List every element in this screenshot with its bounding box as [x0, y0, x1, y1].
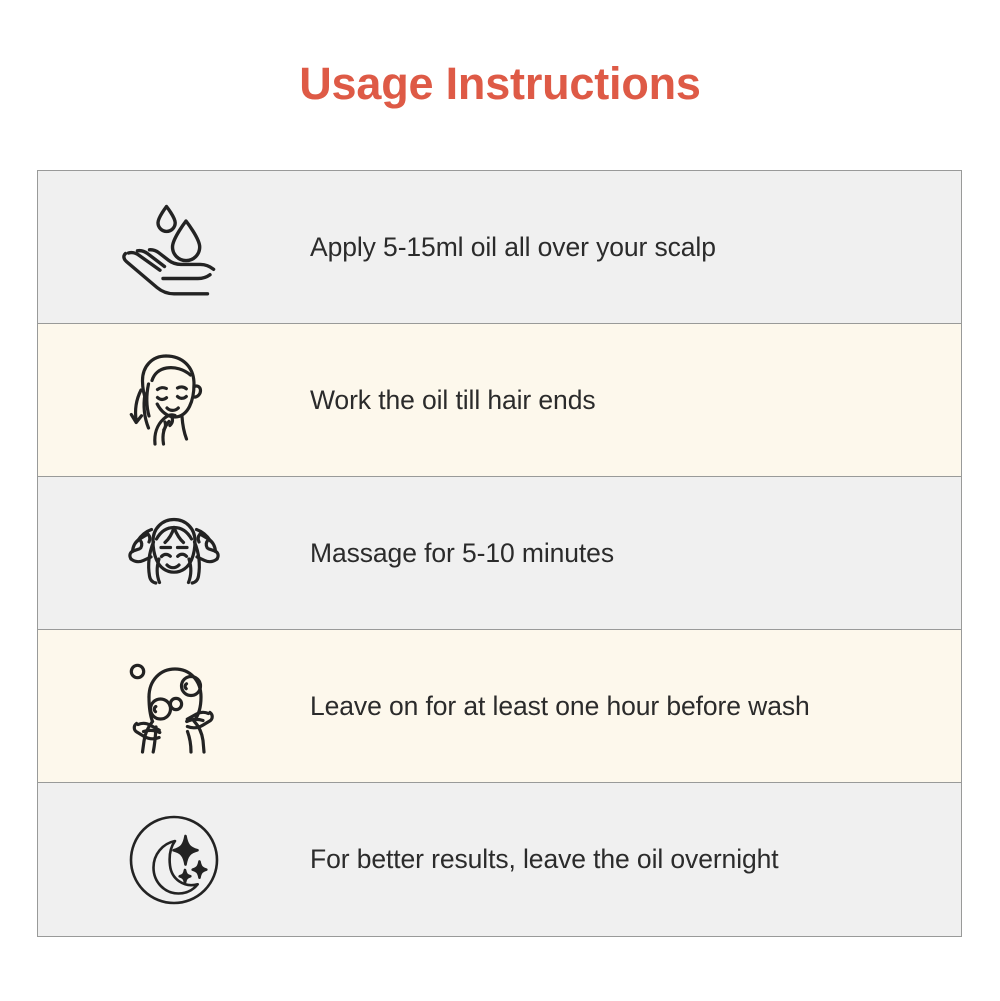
- instruction-step-row: Leave on for at least one hour before wa…: [38, 630, 961, 783]
- page-title: Usage Instructions: [0, 58, 1000, 110]
- moon-and-stars-icon: [38, 783, 310, 936]
- instruction-step-row: Work the oil till hair ends: [38, 324, 961, 477]
- instruction-step-text: Massage for 5-10 minutes: [310, 538, 961, 569]
- instruction-step-row: Apply 5-15ml oil all over your scalp: [38, 171, 961, 324]
- hair-wash-foam-icon: [38, 630, 310, 782]
- instruction-step-row: For better results, leave the oil overni…: [38, 783, 961, 936]
- instructions-table: Apply 5-15ml oil all over your scalp: [37, 170, 962, 937]
- woman-applying-oil-to-hair-icon: [38, 324, 310, 476]
- hand-with-oil-drops-icon: [38, 171, 310, 323]
- instruction-step-text: Leave on for at least one hour before wa…: [310, 691, 961, 722]
- instruction-step-row: Massage for 5-10 minutes: [38, 477, 961, 630]
- scalp-massage-icon: [38, 477, 310, 629]
- instruction-step-text: Work the oil till hair ends: [310, 385, 961, 416]
- instruction-step-text: Apply 5-15ml oil all over your scalp: [310, 232, 961, 263]
- instruction-step-text: For better results, leave the oil overni…: [310, 844, 961, 875]
- usage-instructions-page: Usage Instructions: [0, 0, 1000, 1001]
